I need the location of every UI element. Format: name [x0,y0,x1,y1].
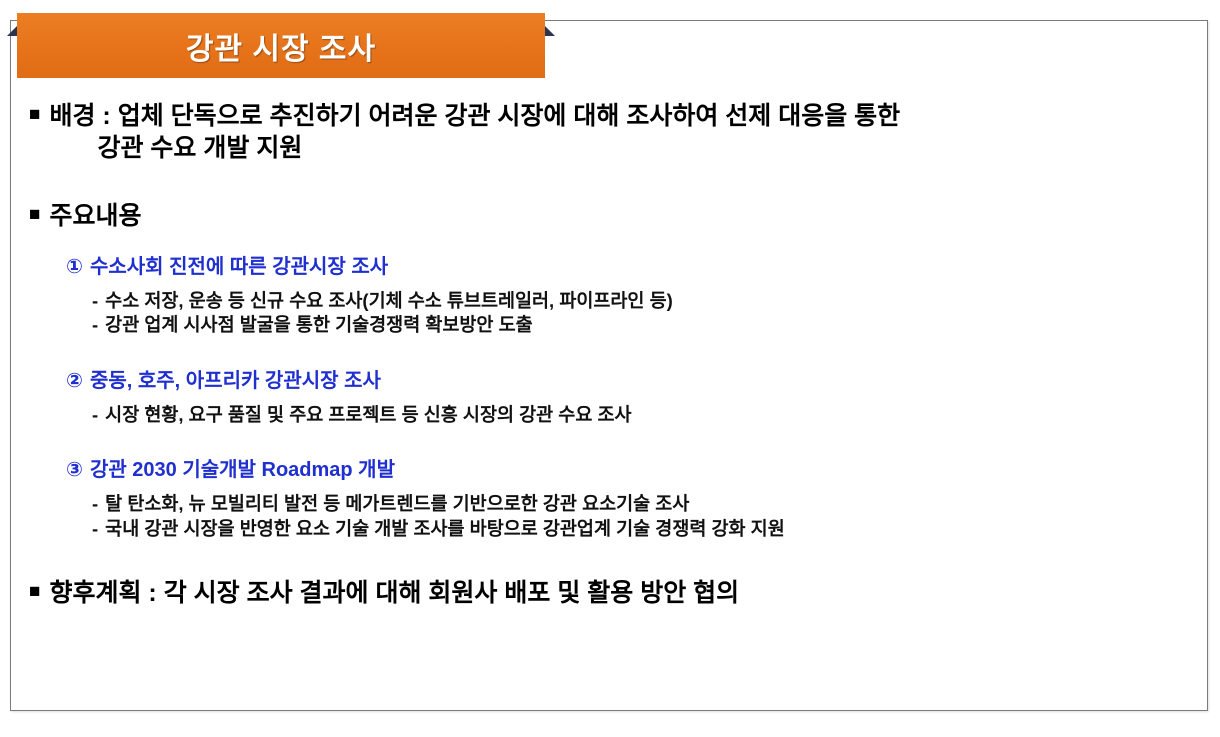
main-item-2-bullet-1-text: 시장 현황, 요구 품질 및 주요 프로젝트 등 신흥 시장의 강관 수요 조사 [105,403,631,427]
dash-bullet-icon: - [92,492,98,516]
main-item-3-title: 강관 2030 기술개발 Roadmap 개발 [90,457,395,483]
main-item-2-title-row: ② 중동, 호주, 아프리카 강관시장 조사 [66,368,1189,394]
spacer [29,394,1189,403]
square-bullet-icon: ■ [29,200,40,229]
section-background-body: 배경 : 업체 단독으로 추진하기 어려운 강관 시장에 대해 조사하여 선제 … [49,100,1189,164]
circled-number-3-icon: ③ [66,457,83,483]
spacer [29,541,1189,577]
section-plan: ■ 향후계획 : 각 시장 조사 결과에 대해 회원사 배포 및 활용 방안 협… [29,577,1189,609]
main-item-1-title: 수소사회 진전에 따른 강관시장 조사 [90,254,388,280]
main-item-3-title-row: ③ 강관 2030 기술개발 Roadmap 개발 [66,457,1189,483]
section-main-heading: 주요내용 [49,200,1189,232]
main-item-3-bullet-2-text: 국내 강관 시장을 반영한 요소 기술 개발 조사를 바탕으로 강관업계 기술 … [105,517,785,541]
spacer [29,280,1189,289]
section-background-continuation: 강관 수요 개발 지원 [49,132,1189,164]
dash-bullet-icon: - [92,403,98,427]
dash-bullet-icon: - [92,313,98,337]
square-bullet-icon: ■ [29,577,40,606]
slide-root: 강관 시장 조사 ■ 배경 : 업체 단독으로 추진하기 어려운 강관 시장에 … [0,0,1220,737]
spacer [29,427,1189,457]
main-item-1-bullet-2-text: 강관 업계 시사점 발굴을 통한 기술경쟁력 확보방안 도출 [105,313,532,337]
main-item-3-bullet-2: - 국내 강관 시장을 반영한 요소 기술 개발 조사를 바탕으로 강관업계 기… [92,517,1189,541]
slide-content: ■ 배경 : 업체 단독으로 추진하기 어려운 강관 시장에 대해 조사하여 선… [11,21,1207,710]
spacer [29,164,1189,200]
main-item-2-bullet-1: - 시장 현황, 요구 품질 및 주요 프로젝트 등 신흥 시장의 강관 수요 … [92,403,1189,427]
section-background-heading: 배경 : 업체 단독으로 추진하기 어려운 강관 시장에 대해 조사하여 선제 … [49,102,900,130]
circled-number-1-icon: ① [66,254,83,280]
square-bullet-icon: ■ [29,100,40,129]
main-item-1-bullet-1-text: 수소 저장, 운송 등 신규 수요 조사(기체 수소 튜브트레일러, 파이프라인… [105,289,673,313]
main-item-1-bullet-1: - 수소 저장, 운송 등 신규 수요 조사(기체 수소 튜브트레일러, 파이프… [92,289,1189,313]
section-main-heading-row: ■ 주요내용 [29,200,1189,232]
main-item-1-bullet-2: - 강관 업계 시사점 발굴을 통한 기술경쟁력 확보방안 도출 [92,313,1189,337]
main-item-2-title: 중동, 호주, 아프리카 강관시장 조사 [90,368,381,394]
spacer [29,483,1189,492]
circled-number-2-icon: ② [66,368,83,394]
main-item-1-title-row: ① 수소사회 진전에 따른 강관시장 조사 [66,254,1189,280]
dash-bullet-icon: - [92,289,98,313]
main-item-3-bullet-1: - 탈 탄소화, 뉴 모빌리티 발전 등 메가트렌드를 기반으로한 강관 요소기… [92,492,1189,516]
spacer [29,338,1189,368]
dash-bullet-icon: - [92,517,98,541]
spacer [29,232,1189,254]
section-background: ■ 배경 : 업체 단독으로 추진하기 어려운 강관 시장에 대해 조사하여 선… [29,100,1189,164]
section-plan-heading: 향후계획 : 각 시장 조사 결과에 대해 회원사 배포 및 활용 방안 협의 [49,577,1189,609]
main-item-3-bullet-1-text: 탈 탄소화, 뉴 모빌리티 발전 등 메가트렌드를 기반으로한 강관 요소기술 … [105,492,689,516]
